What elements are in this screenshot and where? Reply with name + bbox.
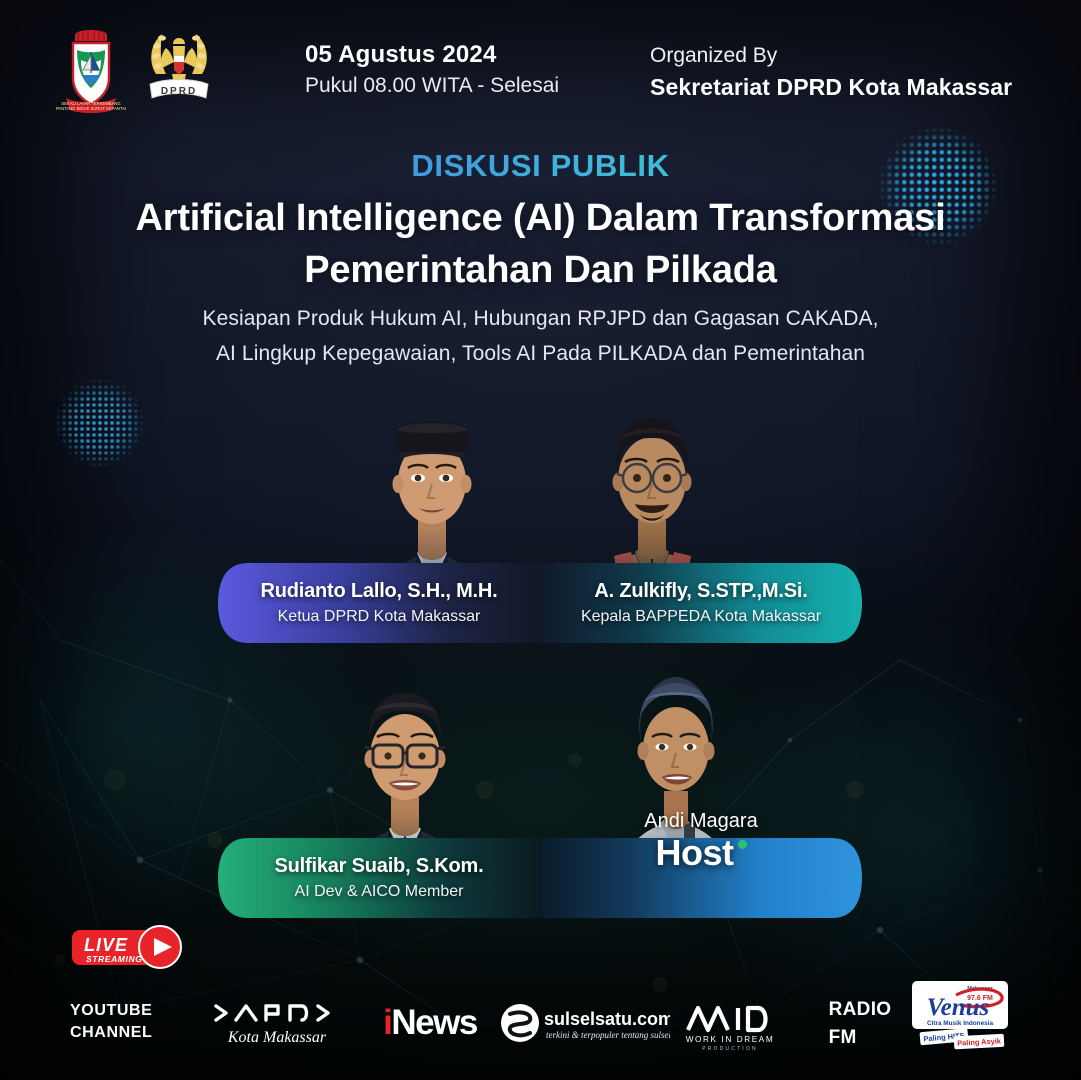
radio-fm-label: RADIO FM: [829, 996, 892, 1051]
sponsor-dprd-kota-makassar: Kota Makassar: [200, 998, 355, 1048]
dprd-lontara-logo-icon: Kota Makassar: [200, 998, 355, 1048]
svg-text:DPRD: DPRD: [161, 86, 197, 97]
dprd-garuda-crest-icon: DPRD: [140, 22, 218, 114]
host-label: Host: [656, 834, 734, 872]
speaker-card-4-host: Andi Magara Host: [540, 838, 862, 918]
speaker-card-1-text: Rudianto Lallo, S.H., M.H. Ketua DPRD Ko…: [254, 580, 503, 626]
sponsor-inews: iNews: [370, 1000, 490, 1044]
title-line-2: Pemerintahan Dan Pilkada: [90, 244, 991, 296]
event-date: 05 Agustus 2024: [305, 40, 559, 70]
speaker-role: Ketua DPRD Kota Makassar: [260, 607, 497, 626]
venus-name: Venus: [927, 994, 990, 1021]
youtube-channel-line-1: YOUTUBE: [70, 1000, 152, 1022]
venus-tagline: Citra Musik Indonesia: [927, 1020, 993, 1027]
live-streaming-badge-icon[interactable]: LIVE STREAMING: [72, 925, 192, 970]
makassar-city-crest-icon: SEKALI LAYAR TERKEMBANG PANTANG BIDUK SU…: [52, 22, 130, 114]
sulselsatu-logo-icon: sulselsatu.com terkini & terpopuler tent…: [500, 1000, 670, 1046]
speaker-card-1: Rudianto Lallo, S.H., M.H. Ketua DPRD Ko…: [218, 563, 540, 643]
venus-fm-logo-icon: Makassar 97.6 FM Venus Citra Musik Indon…: [906, 975, 1014, 1053]
event-time: Pukul 08.00 WITA - Selesai: [305, 72, 559, 99]
speaker-card-4-text: Andi Magara Host: [540, 810, 862, 872]
inews-text: News: [391, 1003, 476, 1042]
youtube-channel-label: YOUTUBE CHANNEL: [70, 1000, 152, 1043]
svg-text:STREAMING: STREAMING: [86, 954, 142, 964]
speaker-role: AI Dev & AICO Member: [275, 882, 484, 901]
host-name: Andi Magara: [546, 810, 856, 832]
poster-kicker: DISKUSI PUBLIK: [0, 148, 1081, 184]
wid-name: WORK IN DREAM: [686, 1035, 775, 1044]
speaker-name: Sulfikar Suaib, S.Kom.: [275, 855, 484, 877]
subtitle-line-2: AI Lingkup Kepegawaian, Tools AI Pada PI…: [110, 337, 971, 372]
svg-text:LIVE: LIVE: [84, 935, 128, 955]
dprd-logo-caption: Kota Makassar: [227, 1029, 327, 1046]
radio-fm-line-1: RADIO: [829, 996, 892, 1024]
subtitle-line-1: Kesiapan Produk Hukum AI, Hubungan RPJPD…: [110, 302, 971, 337]
sulselsatu-name: sulselsatu.com: [544, 1009, 670, 1029]
speaker-name: Rudianto Lallo, S.H., M.H.: [260, 580, 497, 602]
sponsor-sulselsatu: sulselsatu.com terkini & terpopuler tent…: [500, 1000, 670, 1046]
speaker-card-3: Sulfikar Suaib, S.Kom. AI Dev & AICO Mem…: [218, 838, 540, 918]
speaker-row-bottom: Sulfikar Suaib, S.Kom. AI Dev & AICO Mem…: [0, 655, 1081, 930]
header-logos: SEKALI LAYAR TERKEMBANG PANTANG BIDUK SU…: [52, 22, 218, 114]
sponsor-venus-fm: Makassar 97.6 FM Venus Citra Musik Indon…: [906, 975, 1014, 1053]
host-accent-dot-icon: [738, 840, 747, 849]
organized-by-label: Organized By: [650, 42, 1012, 69]
inews-logo-icon: iNews: [383, 1005, 477, 1040]
organizer-name: Sekretariat DPRD Kota Makassar: [650, 73, 1012, 103]
radio-fm-line-2: FM: [829, 1024, 892, 1052]
speaker-card-3-text: Sulfikar Suaib, S.Kom. AI Dev & AICO Mem…: [269, 855, 490, 901]
speaker-card-2: A. Zulkifly, S.STP.,M.Si. Kepala BAPPEDA…: [540, 563, 862, 643]
poster-header: SEKALI LAYAR TERKEMBANG PANTANG BIDUK SU…: [0, 0, 1081, 125]
speaker-role: Kepala BAPPEDA Kota Makassar: [581, 607, 821, 626]
title-line-1: Artificial Intelligence (AI) Dalam Trans…: [90, 192, 991, 244]
speaker-name: A. Zulkifly, S.STP.,M.Si.: [581, 580, 821, 602]
poster-subtitle: Kesiapan Produk Hukum AI, Hubungan RPJPD…: [110, 302, 971, 371]
event-datetime: 05 Agustus 2024 Pukul 08.00 WITA - Seles…: [305, 40, 559, 99]
svg-text:PANTANG BIDUK SURUT KEPANTAI: PANTANG BIDUK SURUT KEPANTAI: [56, 106, 126, 111]
sponsor-radio-fm: RADIO FM: [815, 996, 905, 1052]
organizer-block: Organized By Sekretariat DPRD Kota Makas…: [650, 42, 1012, 103]
speaker-card-2-text: A. Zulkifly, S.STP.,M.Si. Kepala BAPPEDA…: [575, 580, 827, 626]
poster-title: Artificial Intelligence (AI) Dalam Trans…: [90, 192, 991, 296]
wid-sub: PRODUCTION: [702, 1046, 758, 1052]
sponsor-work-in-dream: WORK IN DREAM PRODUCTION: [678, 996, 783, 1054]
sulselsatu-tagline: terkini & terpopuler tentang sulsel: [546, 1030, 670, 1040]
event-poster: SEKALI LAYAR TERKEMBANG PANTANG BIDUK SU…: [0, 0, 1081, 1080]
youtube-channel-line-2: CHANNEL: [70, 1022, 152, 1044]
work-in-dream-logo-icon: WORK IN DREAM PRODUCTION: [678, 996, 783, 1054]
speaker-row-top: Rudianto Lallo, S.H., M.H. Ketua DPRD Ko…: [0, 380, 1081, 655]
